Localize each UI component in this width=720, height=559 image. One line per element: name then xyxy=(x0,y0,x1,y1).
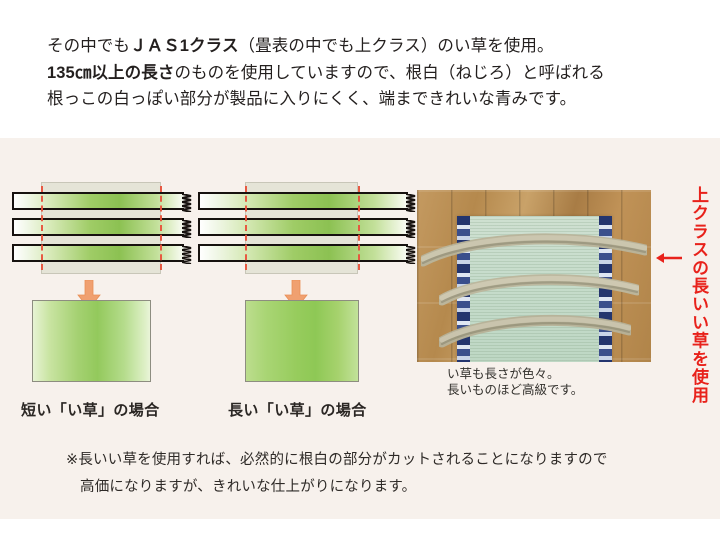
intro-line-2: 135㎝以上の長さのものを使用していますので、根白（ねじろ）と呼ばれる xyxy=(47,60,697,87)
red-dashed-cut-line xyxy=(41,186,43,270)
zigzag-cut-root-icon xyxy=(182,246,193,264)
igusa-bundle xyxy=(439,308,631,348)
photo-caption-line-2: 長いものほど高級です。 xyxy=(447,382,697,398)
igusa-strip xyxy=(198,244,408,262)
bottom-note-line-2: 高価になりますが、きれいな仕上がりになります。 xyxy=(66,474,686,501)
short-igusa-result-swatch xyxy=(32,300,151,382)
igusa-strip xyxy=(12,218,184,236)
intro-line-1-text-after: （畳表の中でも上クラス）のい草を使用。 xyxy=(239,37,554,55)
red-dashed-cut-line xyxy=(245,186,247,270)
igusa-bundle xyxy=(421,228,647,268)
intro-paragraph: その中でもＪＡＳ1クラス（畳表の中でも上クラス）のい草を使用。 135㎝以上の長… xyxy=(47,33,697,113)
red-dashed-cut-line xyxy=(358,186,360,270)
igusa-bundles-on-tatami-photo xyxy=(417,190,651,362)
length-emphasis: 135㎝以上の長さ xyxy=(47,64,174,82)
igusa-strip xyxy=(12,192,184,210)
zigzag-cut-root-icon xyxy=(406,246,417,264)
zigzag-cut-root-icon xyxy=(406,194,417,212)
zigzag-cut-root-icon xyxy=(182,194,193,212)
igusa-strip xyxy=(198,192,408,210)
zigzag-cut-root-icon xyxy=(406,220,417,238)
short-case-label: 短い「い草」の場合 xyxy=(21,399,160,420)
intro-line-1-text-before: その中でも xyxy=(47,37,130,55)
long-case-label: 長い「い草」の場合 xyxy=(228,399,367,420)
vertical-red-annotation: 上クラスの長いい草を使用 xyxy=(684,186,708,406)
red-dashed-cut-line xyxy=(160,186,162,270)
jas-class-emphasis: ＪＡＳ1クラス xyxy=(130,37,239,55)
bottom-note-line-1: ※長いい草を使用すれば、必然的に根白の部分がカットされることになりますので xyxy=(66,447,686,474)
bottom-note: ※長いい草を使用すれば、必然的に根白の部分がカットされることになりますので 高価… xyxy=(66,447,686,501)
product-description-figure: その中でもＪＡＳ1クラス（畳表の中でも上クラス）のい草を使用。 135㎝以上の長… xyxy=(0,0,720,559)
igusa-bundle xyxy=(439,270,639,308)
igusa-strip xyxy=(198,218,408,236)
igusa-strip xyxy=(12,244,184,262)
long-igusa-diagram xyxy=(198,192,408,264)
left-arrow-icon xyxy=(655,250,683,266)
intro-line-2-text: のものを使用していますので、根白（ねじろ）と呼ばれる xyxy=(174,64,604,82)
short-igusa-diagram xyxy=(12,192,184,264)
zigzag-cut-root-icon xyxy=(182,220,193,238)
long-igusa-result-swatch xyxy=(245,300,359,382)
intro-line-1: その中でもＪＡＳ1クラス（畳表の中でも上クラス）のい草を使用。 xyxy=(47,33,697,60)
intro-line-3: 根っこの白っぽい部分が製品に入りにくく、端まできれいな青みです。 xyxy=(47,86,697,113)
photo-caption-line-1: い草も長さが色々。 xyxy=(447,366,697,382)
photo-caption: い草も長さが色々。 長いものほど高級です。 xyxy=(447,366,697,398)
